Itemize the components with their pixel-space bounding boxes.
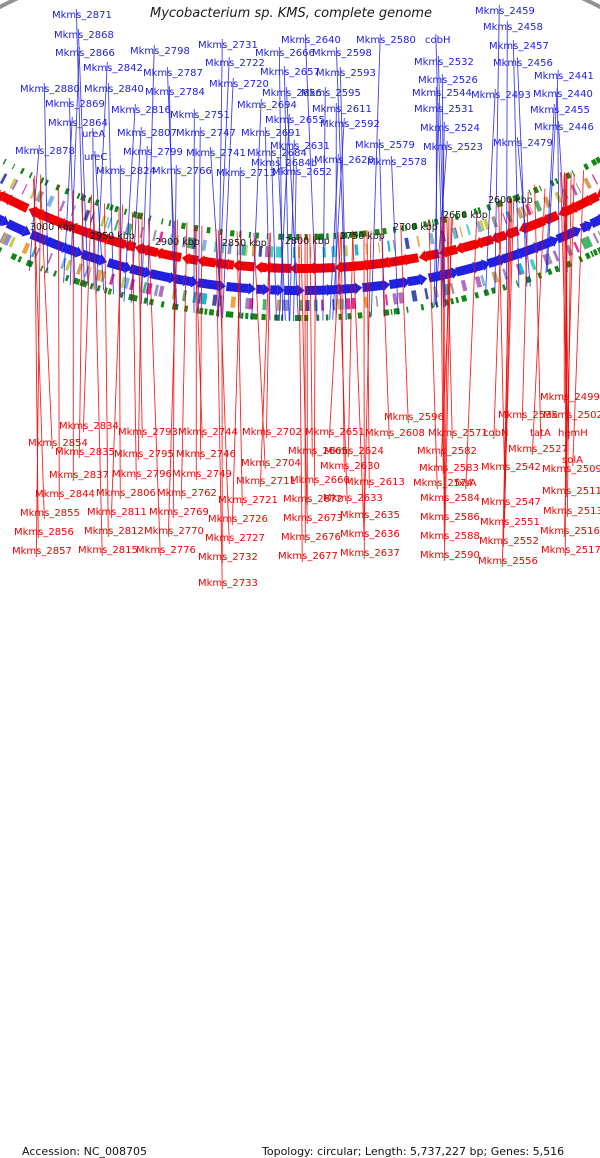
outer-rna-tick <box>252 313 257 319</box>
outer-rna-tick <box>229 311 234 317</box>
outer-feature-tick <box>47 253 53 264</box>
outer-rna-tick <box>261 314 266 320</box>
reverse-gene-label[interactable]: Mkms_2776 <box>136 545 196 556</box>
reverse-gene-label[interactable]: Mkms_2590 <box>420 550 480 561</box>
forward-gene-label[interactable]: Mkms_2657 <box>260 67 320 78</box>
forward-gene-label[interactable]: Mkms_2440 <box>533 89 593 100</box>
inner-feature-tick <box>416 236 420 247</box>
outer-feature-tick <box>376 296 379 307</box>
reverse-label-leader-line <box>105 204 109 537</box>
forward-gene-label[interactable]: Mkms_2655 <box>265 115 325 126</box>
forward-gene-label[interactable]: Mkms_2864 <box>48 118 108 129</box>
forward-gene-label[interactable]: Mkms_2456 <box>493 58 553 69</box>
outer-rna-tick <box>184 305 188 312</box>
reverse-label-leader-line <box>222 229 223 563</box>
forward-gene-arrow <box>149 269 170 282</box>
forward-gene-label[interactable]: Mkms_2880 <box>20 84 80 95</box>
inner-feature-tick <box>466 224 471 235</box>
reverse-gene-arrow <box>425 249 440 261</box>
reverse-gene-label[interactable]: Mkms_2513 <box>543 506 600 517</box>
forward-gene-label[interactable]: Mkms_2493 <box>471 90 531 101</box>
inner-rna-tick <box>29 172 33 178</box>
status-bar: Accession: NC_008705 Topology: circular;… <box>0 570 600 600</box>
forward-gene-label[interactable]: Mkms_2866 <box>55 48 115 59</box>
reverse-gene-label[interactable]: Mkms_2727 <box>205 533 265 544</box>
reverse-gene-label[interactable]: Mkms_2633 <box>323 493 383 504</box>
reverse-gene-label[interactable]: Mkms_2673 <box>283 513 343 524</box>
reverse-gene-label[interactable]: Mkms_2635 <box>340 510 400 521</box>
reverse-gene-arrow <box>480 235 494 247</box>
reverse-gene-label[interactable]: Mkms_2584 <box>420 493 480 504</box>
forward-gene-label[interactable]: Mkms_2455 <box>530 105 590 116</box>
outer-feature-tick <box>321 300 324 311</box>
forward-gene-label[interactable]: Mkms_2751 <box>170 110 230 121</box>
outer-rna-tick <box>406 307 409 313</box>
reverse-label-leader-line <box>573 170 584 466</box>
ruler-tick-label: 2950 kbp <box>90 231 135 242</box>
outer-rna-tick <box>241 313 244 319</box>
forward-gene-label[interactable]: Mkms_2523 <box>423 142 483 153</box>
forward-gene-label[interactable]: Mkms_2580 <box>356 35 416 46</box>
inner-rna-tick <box>106 203 110 209</box>
reverse-gene-label[interactable]: Mkms_2586 <box>420 512 480 523</box>
forward-gene-label[interactable]: Mkms_2741 <box>186 148 246 159</box>
inner-feature-tick <box>323 247 326 258</box>
reverse-gene-label[interactable]: Mkms_2677 <box>278 551 338 562</box>
forward-gene-label[interactable]: Mkms_2840 <box>84 84 144 95</box>
outer-feature-tick <box>182 290 187 301</box>
outer-rna-tick <box>516 280 519 286</box>
reverse-gene-label[interactable]: Mkms_2502 <box>543 410 600 421</box>
outer-rna-tick <box>90 283 94 289</box>
outer-rna-tick <box>326 314 329 320</box>
inner-rna-tick <box>161 218 164 224</box>
forward-gene-label[interactable]: Mkms_2842 <box>83 63 143 74</box>
inner-rna-tick <box>181 223 186 230</box>
outer-rna-tick <box>585 252 591 259</box>
outer-rna-tick <box>474 292 479 299</box>
inner-feature-tick <box>387 241 391 252</box>
outer-feature-tick <box>424 288 429 299</box>
outer-feature-tick <box>593 233 599 244</box>
outer-feature-tick <box>230 297 236 308</box>
outer-rna-tick <box>547 268 553 275</box>
outer-feature-tick <box>530 259 537 271</box>
forward-label-leader-line <box>391 156 398 315</box>
outer-rna-tick <box>431 302 434 308</box>
outer-rna-tick <box>461 295 467 302</box>
forward-gene-label[interactable]: Mkms_2691 <box>241 128 301 139</box>
reverse-gene-label[interactable]: Mkms_2746 <box>176 449 236 460</box>
forward-gene-label[interactable]: Mkms_2441 <box>534 71 594 82</box>
outer-rna-tick <box>97 285 101 292</box>
forward-gene-label[interactable]: Mkms_2798 <box>130 46 190 57</box>
reverse-gene-label[interactable]: hemH <box>558 428 588 439</box>
outer-rna-tick <box>204 309 207 315</box>
reverse-gene-label[interactable]: Mkms_2744 <box>178 427 238 438</box>
forward-gene-label[interactable]: Mkms_2722 <box>205 58 265 69</box>
genome-map-viewport[interactable]: Mycobacterium sp. KMS, complete genome 3… <box>0 0 600 600</box>
outer-rna-tick <box>65 275 70 282</box>
forward-gene-label[interactable]: Mkms_2807 <box>117 128 177 139</box>
outer-rna-tick <box>40 265 44 271</box>
inner-feature-tick <box>22 184 28 194</box>
inner-feature-tick <box>202 240 207 251</box>
forward-gene-arrow <box>6 219 26 235</box>
reverse-gene-label[interactable]: Mkms_2596 <box>384 412 444 423</box>
forward-gene-label[interactable]: Mkms_2868 <box>54 30 114 41</box>
reverse-gene-arrow <box>239 261 255 271</box>
inner-feature-tick <box>59 201 65 212</box>
forward-gene-label[interactable]: Mkms_2457 <box>489 41 549 52</box>
inner-rna-tick <box>3 159 7 165</box>
forward-gene-label[interactable]: Mkms_2878 <box>15 146 75 157</box>
reverse-gene-arrow <box>188 255 198 265</box>
outer-feature-tick <box>60 258 67 269</box>
forward-gene-label[interactable]: cobH <box>425 35 450 46</box>
outer-feature-tick <box>262 299 266 310</box>
inner-rna-tick <box>114 206 119 213</box>
forward-gene-arrow <box>107 258 127 272</box>
reverse-gene-label[interactable]: Mkms_2582 <box>417 446 477 457</box>
reverse-gene-label[interactable]: Mkms_2711 <box>236 476 296 487</box>
reverse-gene-label[interactable]: Mkms_2806 <box>96 488 156 499</box>
reverse-gene-label[interactable]: Mkms_2796 <box>112 469 172 480</box>
forward-gene-label[interactable]: ureC <box>84 152 107 163</box>
reverse-gene-arrow <box>406 253 419 264</box>
outer-rna-tick <box>395 308 400 315</box>
forward-gene-label[interactable]: Mkms_2598 <box>312 48 372 59</box>
reverse-gene-label[interactable]: Mkms_2571 <box>428 428 488 439</box>
inner-feature-tick <box>378 242 380 253</box>
reverse-gene-label[interactable]: Mkms_2855 <box>20 508 80 519</box>
outer-rna-tick <box>209 309 214 316</box>
forward-gene-label[interactable]: Mkms_2524 <box>420 123 480 134</box>
outer-rna-tick <box>358 312 363 318</box>
reverse-gene-label[interactable]: Mkms_2517 <box>541 545 600 556</box>
inner-rna-tick <box>55 184 60 191</box>
reverse-gene-label[interactable]: Mkms_2676 <box>281 532 341 543</box>
inner-feature-tick <box>491 216 498 228</box>
forward-gene-label[interactable]: Mkms_2532 <box>414 57 474 68</box>
reverse-gene-label[interactable]: Mkms_2624 <box>324 446 384 457</box>
outer-feature-tick <box>553 250 560 261</box>
outer-feature-tick <box>450 283 455 294</box>
inner-rna-tick <box>64 188 70 195</box>
outer-rna-tick <box>421 304 425 310</box>
reverse-gene-label[interactable]: Mkms_2637 <box>340 548 400 559</box>
forward-gene-label[interactable]: Mkms_2578 <box>367 157 427 168</box>
inner-feature-tick <box>46 195 54 207</box>
outer-feature-tick <box>212 295 218 306</box>
forward-gene-arrowhead <box>297 285 304 297</box>
outer-feature-tick <box>461 280 468 292</box>
reverse-gene-label[interactable]: Mkms_2857 <box>12 546 72 557</box>
forward-gene-label[interactable]: Mkms_2869 <box>45 99 105 110</box>
reverse-gene-label[interactable]: Mkms_2651 <box>305 427 365 438</box>
reverse-gene-label[interactable]: Mkms_2660 <box>290 475 350 486</box>
reverse-gene-label[interactable]: Mkms_2527 <box>508 444 568 455</box>
ruler-tick-label: 2900 kbp <box>155 237 200 248</box>
forward-gene-label[interactable]: Mkms_2799 <box>123 147 183 158</box>
forward-gene-label[interactable]: Mkms_2544 <box>412 88 472 99</box>
forward-gene-arrow <box>455 263 475 276</box>
outer-rna-tick <box>17 256 22 263</box>
reverse-label-leader-line <box>401 225 409 424</box>
inner-feature-tick <box>583 178 592 190</box>
forward-gene-label[interactable]: ureA <box>82 129 105 140</box>
accession-text: Accession: NC_008705 <box>22 1145 147 1158</box>
ruler-tick-label: 2800 kbp <box>285 236 330 247</box>
inner-feature-tick <box>276 247 281 258</box>
ruler-tick-label: 3000 kbp <box>30 222 75 233</box>
reverse-gene-label[interactable]: Mkms_2762 <box>157 488 217 499</box>
inner-feature-tick <box>114 220 119 231</box>
forward-gene-label[interactable]: Mkms_2458 <box>483 22 543 33</box>
reverse-gene-label[interactable]: Mkms_2516 <box>540 526 600 537</box>
reverse-gene-label[interactable]: Mkms_2588 <box>420 531 480 542</box>
outer-rna-tick <box>295 315 298 321</box>
forward-gene-label[interactable]: Mkms_2640 <box>281 35 341 46</box>
reverse-gene-label[interactable]: tatA <box>530 428 551 439</box>
forward-gene-label[interactable]: Mkms_2628 <box>314 155 374 166</box>
outer-rna-tick <box>435 301 438 307</box>
inner-rna-tick <box>539 185 542 191</box>
outer-feature-tick <box>158 286 164 298</box>
inner-rna-tick <box>20 168 25 174</box>
forward-gene-label[interactable]: Mkms_2593 <box>316 68 376 79</box>
reverse-gene-label[interactable]: Mkms_2509 <box>542 464 600 475</box>
reverse-gene-label[interactable]: Mkms_2726 <box>208 514 268 525</box>
reverse-gene-arrow <box>161 249 182 262</box>
forward-gene-label[interactable]: Mkms_2824 <box>96 166 156 177</box>
reverse-gene-label[interactable]: Mkms_2837 <box>49 470 109 481</box>
reverse-gene-label[interactable]: Mkms_2834 <box>59 421 119 432</box>
ruler-tick-label: 2750 kbp <box>340 231 385 242</box>
reverse-gene-label[interactable]: Mkms_2732 <box>198 552 258 563</box>
reverse-gene-label[interactable]: Mkms_2844 <box>35 489 95 500</box>
reverse-gene-label[interactable]: Mkms_2769 <box>149 507 209 518</box>
outer-feature-tick <box>346 298 351 309</box>
reverse-gene-arrow <box>8 196 30 213</box>
outer-rna-tick <box>502 284 506 291</box>
outer-rna-tick <box>0 247 2 254</box>
forward-gene-label[interactable]: Mkms_2611 <box>312 104 372 115</box>
outer-rna-tick <box>450 298 454 305</box>
outer-feature-tick <box>154 285 159 296</box>
reverse-gene-label[interactable]: Mkms_2552 <box>479 536 539 547</box>
forward-gene-label[interactable]: Mkms_2526 <box>418 75 478 86</box>
forward-gene-label[interactable]: Mkms_2459 <box>475 6 535 17</box>
page-title: Mycobacterium sp. KMS, complete genome <box>150 6 432 21</box>
outer-rna-tick <box>455 297 459 303</box>
forward-gene-arrow <box>197 278 219 290</box>
inner-rna-tick <box>206 227 211 233</box>
reverse-gene-label[interactable]: Mkms_2702 <box>242 427 302 438</box>
inner-rna-tick <box>168 220 171 226</box>
forward-gene-label[interactable]: Mkms_2720 <box>209 79 269 90</box>
reverse-gene-label[interactable]: Mkms_2551 <box>480 517 540 528</box>
reverse-gene-label[interactable]: Mkms_2542 <box>481 462 541 473</box>
reverse-gene-label[interactable]: Mkms_2636 <box>340 529 400 540</box>
reverse-gene-label[interactable]: Mkms_2547 <box>481 497 541 508</box>
inner-rna-tick <box>230 230 235 236</box>
ruler-tick-label: 2700 kbp <box>393 222 438 233</box>
reverse-gene-label[interactable]: Mkms_2608 <box>365 428 425 439</box>
forward-gene-arrow <box>270 285 277 294</box>
inner-feature-tick <box>404 238 410 250</box>
reverse-gene-label[interactable]: Mkms_2856 <box>14 527 74 538</box>
reverse-gene-label[interactable]: cobN <box>483 428 508 439</box>
ruler-tick-label: 2850 kbp <box>222 238 267 249</box>
inner-feature-tick <box>354 244 358 255</box>
reverse-gene-label[interactable]: Mkms_2793 <box>118 427 178 438</box>
forward-gene-label[interactable]: Mkms_2666 <box>255 48 315 59</box>
reverse-gene-label[interactable]: Mkms_2812 <box>84 526 144 537</box>
forward-gene-label[interactable]: Mkms_2694 <box>237 100 297 111</box>
forward-gene-label[interactable]: Mkms_2816 <box>111 105 171 116</box>
outer-rna-tick <box>53 270 57 276</box>
inner-feature-tick <box>0 173 7 184</box>
forward-gene-label[interactable]: Mkms_2787 <box>143 68 203 79</box>
inner-rna-tick <box>94 199 99 206</box>
outer-rna-tick <box>391 309 393 315</box>
outer-rna-tick <box>161 301 165 308</box>
outer-rna-tick <box>10 253 17 261</box>
reverse-gene-label[interactable]: Mkms_2583 <box>419 463 479 474</box>
ruler-tick-label: 2650 kbp <box>443 210 488 221</box>
reverse-gene-label[interactable]: Mkms_2795 <box>114 449 174 460</box>
forward-gene-label[interactable]: Mkms_2579 <box>355 140 415 151</box>
forward-gene-label[interactable]: Mkms_2747 <box>176 128 236 139</box>
forward-gene-label[interactable]: Mkms_2531 <box>414 104 474 115</box>
reverse-gene-label[interactable]: Mkms_2511 <box>542 486 600 497</box>
topology-text: Topology: circular; Length: 5,737,227 bp… <box>262 1145 564 1158</box>
outer-feature-tick <box>385 294 388 305</box>
forward-gene-label[interactable]: Mkms_2595 <box>301 88 361 99</box>
forward-gene-label[interactable]: Mkms_2446 <box>534 122 594 133</box>
ruler-tick-label: 2600 kbp <box>488 195 533 206</box>
forward-gene-label[interactable]: Mkms_2784 <box>145 87 205 98</box>
outer-feature-tick <box>109 274 115 285</box>
forward-gene-label[interactable]: Mkms_2631 <box>270 141 330 152</box>
inner-rna-tick <box>124 209 128 215</box>
inner-feature-tick <box>592 174 598 184</box>
forward-gene-label[interactable]: Mkms_2731 <box>198 40 258 51</box>
reverse-gene-label[interactable]: Mkms_2704 <box>241 458 301 469</box>
forward-gene-label[interactable]: Mkms_2479 <box>493 138 553 149</box>
reverse-gene-label[interactable]: Mkms_2835 <box>55 447 115 458</box>
outer-feature-tick <box>22 242 31 254</box>
inner-rna-tick <box>12 164 16 170</box>
reverse-gene-label[interactable]: Mkms_2721 <box>218 495 278 506</box>
reverse-gene-label[interactable]: fxsA <box>455 478 477 489</box>
forward-gene-label[interactable]: Mkms_2766 <box>152 166 212 177</box>
reverse-gene-label[interactable]: Mkms_2556 <box>478 556 538 567</box>
reverse-gene-label[interactable]: Mkms_2630 <box>320 461 380 472</box>
reverse-label-leader-line <box>148 218 160 556</box>
reverse-gene-label[interactable]: Mkms_2613 <box>345 477 405 488</box>
forward-gene-arrow <box>226 282 249 293</box>
inner-feature-tick <box>502 213 507 224</box>
inner-rna-tick <box>583 163 589 170</box>
outer-feature-tick <box>411 290 418 302</box>
reverse-gene-label[interactable]: Mkms_2815 <box>78 545 138 556</box>
forward-gene-arrowhead <box>248 283 256 295</box>
inner-rna-tick <box>77 193 81 199</box>
reverse-gene-label[interactable]: Mkms_2811 <box>87 507 147 518</box>
outer-feature-tick <box>573 242 580 253</box>
forward-gene-label[interactable]: Mkms_2713 <box>216 168 276 179</box>
forward-gene-arrow <box>342 284 355 294</box>
forward-gene-arrow <box>407 275 421 286</box>
inner-feature-tick <box>459 226 463 237</box>
outer-rna-tick <box>245 313 248 319</box>
forward-gene-label[interactable]: Mkms_2592 <box>320 119 380 130</box>
forward-gene-arrow <box>129 264 146 276</box>
forward-gene-label[interactable]: Mkms_2871 <box>52 10 112 21</box>
reverse-gene-label[interactable]: Mkms_2749 <box>172 469 232 480</box>
forward-gene-arrow <box>46 237 65 252</box>
forward-gene-label[interactable]: Mkms_2684b <box>251 158 317 169</box>
reverse-gene-label[interactable]: Mkms_2770 <box>144 526 204 537</box>
forward-gene-arrowhead <box>354 282 362 294</box>
reverse-gene-label[interactable]: Mkms_2499 <box>540 392 600 403</box>
